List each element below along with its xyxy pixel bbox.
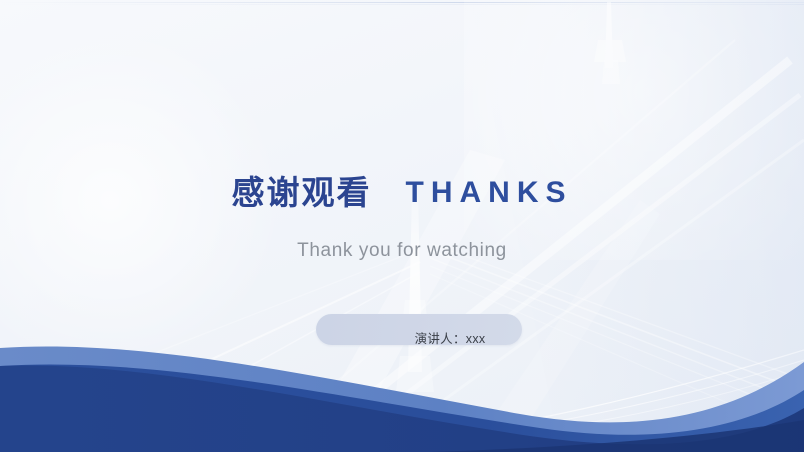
speaker-label: 演讲人：xxx xyxy=(347,328,553,347)
title-chinese: 感谢观看 xyxy=(232,174,372,211)
subtitle: Thank you for watching xyxy=(0,240,804,262)
thanks-slide: 感谢观看THANKS Thank you for watching 演讲人：xx… xyxy=(0,0,804,452)
title-english: THANKS xyxy=(406,176,573,209)
page-title: 感谢观看THANKS xyxy=(0,176,804,209)
slide-content: 感谢观看THANKS Thank you for watching 演讲人：xx… xyxy=(0,0,804,452)
